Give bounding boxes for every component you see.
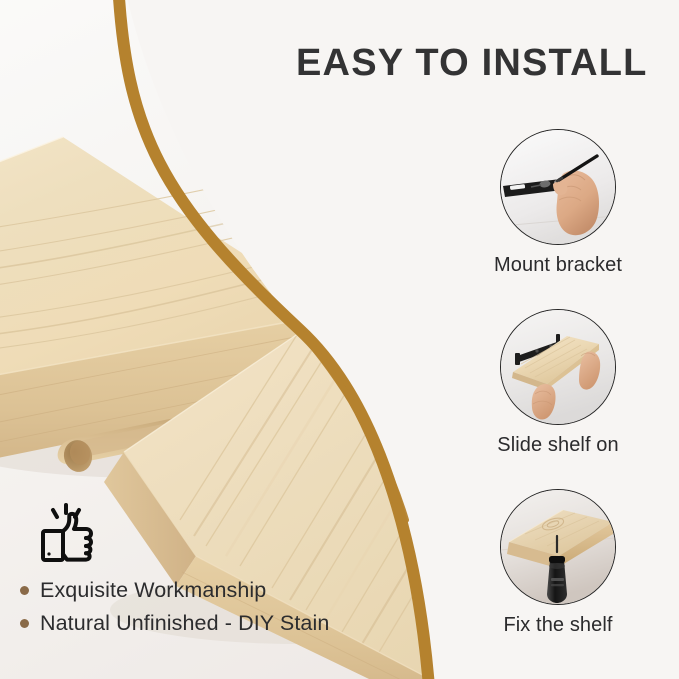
- bullet-dot: [20, 586, 29, 595]
- infographic-canvas: EASY TO INSTALL Exquisite Workmanship Na…: [0, 0, 679, 679]
- feature-label: Exquisite Workmanship: [40, 578, 266, 603]
- install-step-mount-bracket: Mount bracket: [463, 129, 653, 277]
- step-photo-fix-the-shelf: [500, 489, 616, 605]
- install-step-slide-shelf-on: Slide shelf on: [463, 309, 653, 457]
- bullet-dot: [20, 619, 29, 628]
- page-title: EASY TO INSTALL: [296, 40, 666, 86]
- feature-list: Exquisite Workmanship Natural Unfinished…: [16, 498, 406, 636]
- step-caption: Fix the shelf: [463, 614, 653, 637]
- thumbs-up-icon: [30, 498, 102, 570]
- feature-item: Natural Unfinished - DIY Stain: [16, 611, 406, 636]
- step-photo-mount-bracket: [500, 129, 616, 245]
- step-caption: Mount bracket: [463, 254, 653, 277]
- feature-label: Natural Unfinished - DIY Stain: [40, 611, 329, 636]
- feature-item: Exquisite Workmanship: [16, 578, 406, 603]
- install-step-fix-the-shelf: Fix the shelf: [463, 489, 653, 637]
- step-caption: Slide shelf on: [463, 434, 653, 457]
- step-photo-slide-shelf-on: [500, 309, 616, 425]
